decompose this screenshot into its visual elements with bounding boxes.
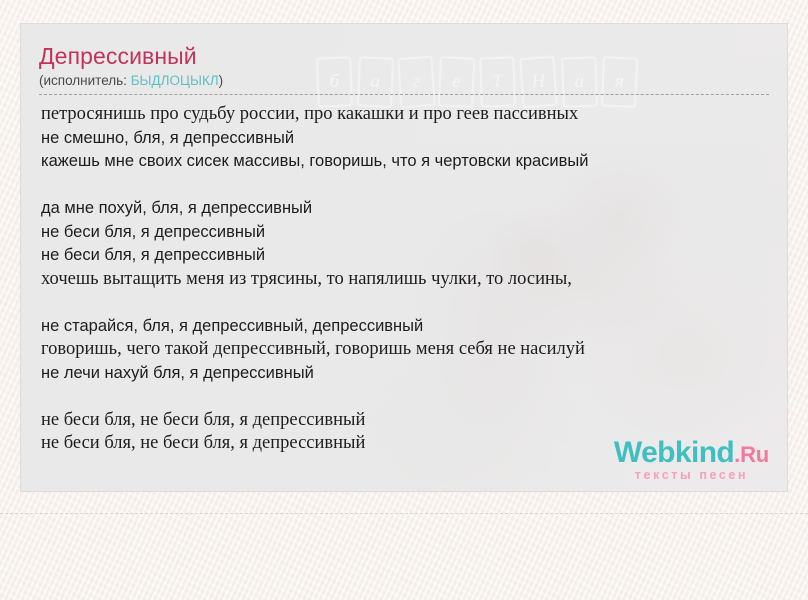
song-title: Депрессивный	[39, 43, 787, 70]
lyrics-line: не беси бля, я депрессивный	[41, 221, 787, 245]
page-divider-rule	[0, 513, 808, 514]
lyrics-line: кажешь мне своих сисек массивы, говоришь…	[41, 150, 787, 174]
artist-prefix-label: (исполнитель:	[39, 73, 131, 88]
artist-suffix-label: )	[219, 73, 224, 88]
lyrics-line: не смешно, бля, я депрессивный	[41, 127, 787, 151]
webkind-logo-tld-text: .Ru	[734, 442, 769, 467]
lyrics-line: не беси бля, не беси бля, я депрессивный	[41, 409, 787, 433]
lyrics-line: не беси бля, я депрессивный	[41, 244, 787, 268]
lyrics-line: говоришь, чего такой депрессивный, говор…	[41, 338, 787, 362]
webkind-logo-tagline: тексты песен	[614, 469, 769, 482]
lyrics-line: петросянишь про судьбу россии, про какаш…	[41, 103, 787, 127]
song-header: Депрессивный (исполнитель: БЫДЛОЦЫКЛ)	[21, 24, 787, 89]
webkind-logo-main-text: Webkind	[614, 436, 734, 469]
lyrics-blank-line	[41, 174, 787, 198]
webkind-logo-name: Webkind.Ru	[614, 438, 769, 468]
lyrics-blank-line	[41, 291, 787, 315]
song-lyrics-card: б а г е Т Н а я Депрессивный (исполнител…	[20, 23, 788, 492]
lyrics-line: не лечи нахуй бля, я депрессивный	[41, 362, 787, 386]
webkind-logo[interactable]: Webkind.Ru тексты песен	[614, 438, 769, 482]
lyrics-blank-line	[41, 385, 787, 409]
lyrics-text: петросянишь про судьбу россии, про какаш…	[21, 95, 787, 456]
artist-link[interactable]: БЫДЛОЦЫКЛ	[131, 73, 219, 88]
artist-line: (исполнитель: БЫДЛОЦЫКЛ)	[39, 72, 787, 89]
lyrics-line: хочешь вытащить меня из трясины, то напя…	[41, 268, 787, 292]
lyrics-line: не старайся, бля, я депрессивный, депрес…	[41, 315, 787, 339]
lyrics-line: да мне похуй, бля, я депрессивный	[41, 197, 787, 221]
